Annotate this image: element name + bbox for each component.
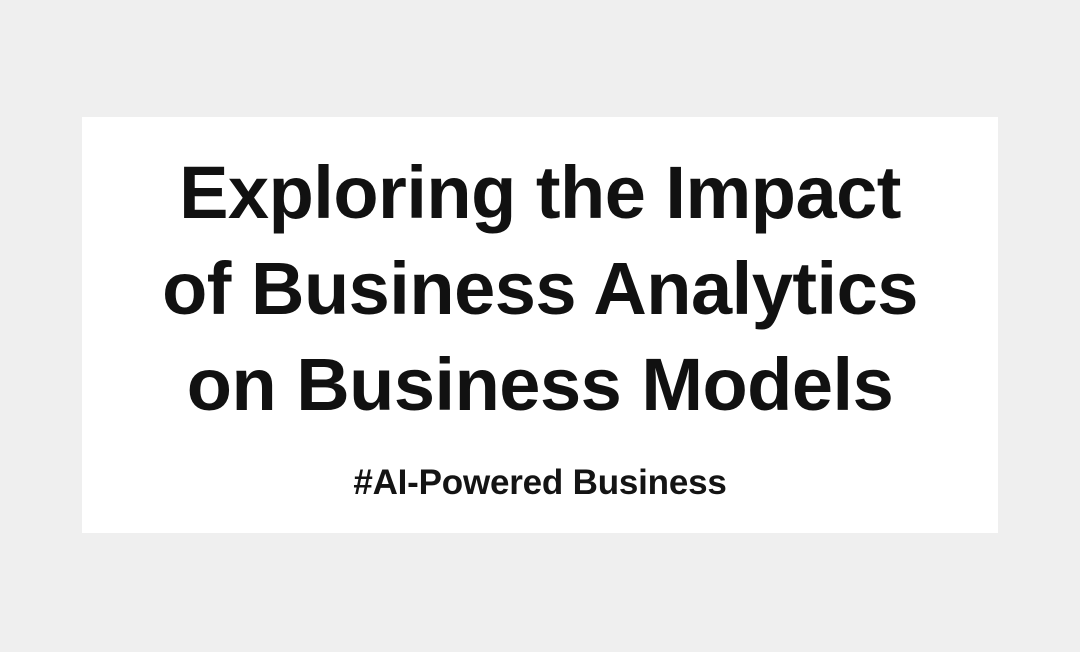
slide-canvas: Exploring the Impact of Business Analyti… [0, 0, 1080, 652]
page-title-line-3: on Business Models [82, 337, 998, 433]
page-title-line-1: Exploring the Impact [82, 145, 998, 241]
page-title: Exploring the Impact of Business Analyti… [82, 117, 998, 433]
title-card: Exploring the Impact of Business Analyti… [82, 117, 998, 533]
page-subtitle-hashtag: #AI-Powered Business [82, 461, 998, 505]
page-title-line-2: of Business Analytics [82, 241, 998, 337]
